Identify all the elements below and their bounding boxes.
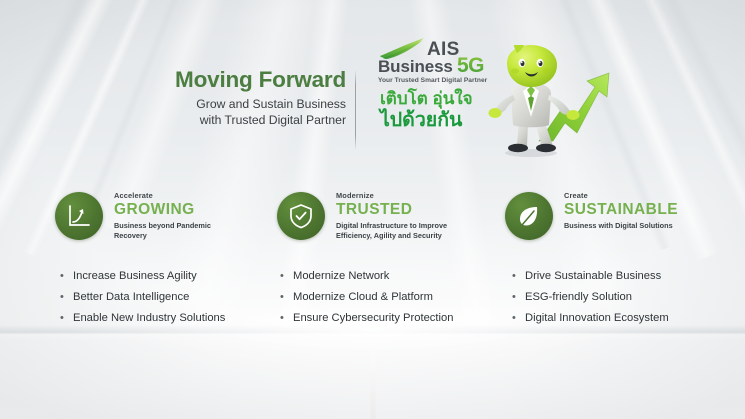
slide-canvas: Moving Forward Grow and Sustain Business… xyxy=(0,0,745,419)
list-item: • ESG-friendly Solution xyxy=(512,291,669,304)
bullet-marker-icon: • xyxy=(280,271,293,282)
bullet-column-sustainable: • Drive Sustainable Business • ESG-frien… xyxy=(512,270,669,333)
list-item: • Digital Innovation Ecosystem xyxy=(512,312,669,325)
list-item-label: Increase Business Agility xyxy=(73,270,197,283)
pillar-description-line-2: Efficiency, Agility and Security xyxy=(336,231,447,241)
logo-business-text: Business xyxy=(378,58,453,75)
ais-mascot-with-growth-arrow xyxy=(487,45,647,160)
pillar-sustainable[interactable]: Create SUSTAINABLE Business with Digital… xyxy=(505,188,678,240)
hero-section: Moving Forward Grow and Sustain Business… xyxy=(0,0,745,175)
pillar-description: Digital Infrastructure to Improve Effici… xyxy=(336,221,447,242)
pillar-icon-circle xyxy=(55,192,103,240)
hero-text-block: Moving Forward Grow and Sustain Business… xyxy=(150,68,346,129)
list-item-label: Enable New Industry Solutions xyxy=(73,312,225,325)
pillar-label: Accelerate xyxy=(114,192,211,200)
pillar-description: Business with Digital Solutions xyxy=(564,221,678,231)
ais-swoosh-icon xyxy=(378,37,426,59)
pillar-description-line-1: Digital Infrastructure to Improve xyxy=(336,221,447,231)
hero-subtitle-line-1: Grow and Sustain Business xyxy=(150,96,346,113)
hero-subtitle: Grow and Sustain Business with Trusted D… xyxy=(150,96,346,130)
pillar-label: Modernize xyxy=(336,192,447,200)
list-item-label: Drive Sustainable Business xyxy=(525,270,661,283)
pillar-text: Modernize TRUSTED Digital Infrastructure… xyxy=(336,188,447,242)
pillar-text: Create SUSTAINABLE Business with Digital… xyxy=(564,188,678,231)
pillar-name: TRUSTED xyxy=(336,201,447,220)
vertical-divider xyxy=(355,70,356,150)
shield-check-icon xyxy=(288,203,314,229)
list-item-label: Digital Innovation Ecosystem xyxy=(525,312,669,325)
list-item: • Drive Sustainable Business xyxy=(512,270,669,283)
list-item: • Modernize Network xyxy=(280,270,453,283)
bullet-column-trusted: • Modernize Network • Modernize Cloud & … xyxy=(280,270,453,333)
page-title: Moving Forward xyxy=(150,68,346,92)
growth-chart-icon xyxy=(66,203,92,229)
pillar-name: GROWING xyxy=(114,201,211,220)
svg-text:5G: 5G xyxy=(457,54,484,75)
leaf-icon xyxy=(516,203,542,229)
pillar-trusted[interactable]: Modernize TRUSTED Digital Infrastructure… xyxy=(277,188,447,242)
bullet-marker-icon: • xyxy=(60,313,73,324)
list-item-label: ESG-friendly Solution xyxy=(525,291,632,304)
pillar-description: Business beyond Pandemic Recovery xyxy=(114,221,211,242)
bullet-marker-icon: • xyxy=(512,271,525,282)
bullet-marker-icon: • xyxy=(280,313,293,324)
pillar-icon-circle xyxy=(505,192,553,240)
pillar-text: Accelerate GROWING Business beyond Pande… xyxy=(114,188,211,242)
list-item: • Enable New Industry Solutions xyxy=(60,312,225,325)
list-item-label: Better Data Intelligence xyxy=(73,291,189,304)
bullet-marker-icon: • xyxy=(60,292,73,303)
pillar-description-line-2: Recovery xyxy=(114,231,211,241)
logo-tagline: Your Trusted Smart Digital Partner xyxy=(378,77,496,84)
pillar-description-line-1: Business beyond Pandemic xyxy=(114,221,211,231)
list-item-label: Ensure Cybersecurity Protection xyxy=(293,312,453,325)
list-item-label: Modernize Cloud & Platform xyxy=(293,291,433,304)
bullet-column-growing: • Increase Business Agility • Better Dat… xyxy=(60,270,225,333)
pillar-growing[interactable]: Accelerate GROWING Business beyond Pande… xyxy=(55,188,211,242)
pillars-section: Accelerate GROWING Business beyond Pande… xyxy=(0,188,745,256)
list-item: • Better Data Intelligence xyxy=(60,291,225,304)
pillar-description-line-1: Business with Digital Solutions xyxy=(564,221,678,231)
list-item: • Ensure Cybersecurity Protection xyxy=(280,312,453,325)
list-item: • Modernize Cloud & Platform xyxy=(280,291,453,304)
pillar-icon-circle xyxy=(277,192,325,240)
bullet-marker-icon: • xyxy=(512,292,525,303)
hero-subtitle-line-2: with Trusted Digital Partner xyxy=(150,112,346,129)
bullet-marker-icon: • xyxy=(280,292,293,303)
pillar-label: Create xyxy=(564,192,678,200)
ais-business-5g-logo: AIS Business 5G Your Trusted Smart Digit… xyxy=(378,33,496,84)
pillar-name: SUSTAINABLE xyxy=(564,201,678,220)
list-item: • Increase Business Agility xyxy=(60,270,225,283)
logo-5g-icon: 5G xyxy=(457,54,490,75)
bullet-marker-icon: • xyxy=(60,271,73,282)
bullet-marker-icon: • xyxy=(512,313,525,324)
logo-bottom-row: Business 5G xyxy=(378,54,496,75)
list-item-label: Modernize Network xyxy=(293,270,389,283)
